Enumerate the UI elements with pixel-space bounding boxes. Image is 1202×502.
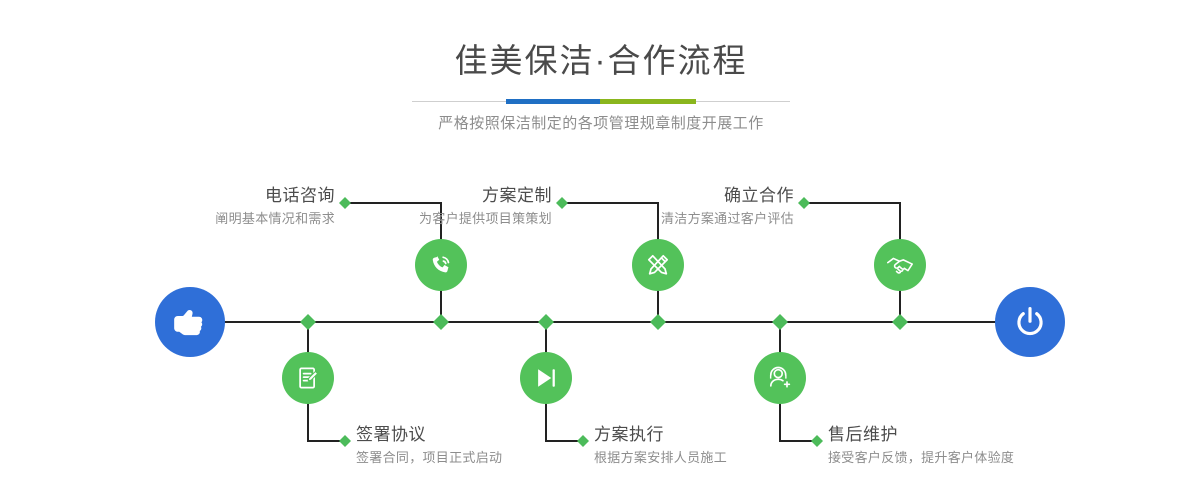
step-desc-4: 根据方案安排人员施工 — [594, 449, 727, 467]
axis-node-marker — [433, 314, 449, 330]
step-desc-3: 为客户提供项目策策划 — [419, 210, 552, 228]
step-icon-4[interactable] — [520, 352, 572, 404]
step-desc-5: 清洁方案通过客户评估 — [661, 210, 794, 228]
step-title-6: 售后维护 — [828, 425, 1014, 445]
cooperation-flow-infographic: 佳美保洁·合作流程 严格按照保洁制定的各项管理规章制度开展工作 — [0, 0, 1202, 502]
label-marker-step-2 — [339, 435, 351, 447]
step-icon-6[interactable] — [754, 352, 806, 404]
step-icon-3[interactable] — [632, 239, 684, 291]
step-desc-2: 签署合同，项目正式启动 — [356, 449, 502, 467]
axis-node-marker — [300, 314, 316, 330]
step-desc-1: 阐明基本情况和需求 — [215, 210, 335, 228]
step-title-1: 电话咨询 — [215, 186, 335, 206]
flow-start-node[interactable] — [155, 287, 225, 357]
step-label-1: 电话咨询 阐明基本情况和需求 — [215, 186, 335, 228]
power-icon — [1011, 303, 1049, 341]
axis-node-marker — [538, 314, 554, 330]
step-label-3: 方案定制 为客户提供项目策策划 — [419, 186, 552, 228]
label-marker-step-4 — [577, 435, 589, 447]
axis-node-marker — [892, 314, 908, 330]
pointing-hand-icon — [171, 303, 209, 341]
step-icon-2[interactable] — [282, 352, 334, 404]
step-desc-6: 接受客户反馈，提升客户体验度 — [828, 449, 1014, 467]
step-label-4: 方案执行 根据方案安排人员施工 — [594, 425, 727, 467]
flow-end-node[interactable] — [995, 287, 1065, 357]
handshake-icon — [885, 250, 915, 280]
pencil-design-icon — [644, 251, 672, 279]
step-icon-5[interactable] — [874, 239, 926, 291]
customer-service-add-icon — [766, 364, 794, 392]
step-icon-1[interactable] — [415, 239, 467, 291]
step-title-2: 签署协议 — [356, 425, 502, 445]
label-marker-step-6 — [811, 435, 823, 447]
play-execute-icon — [532, 364, 560, 392]
step-label-6: 售后维护 接受客户反馈，提升客户体验度 — [828, 425, 1014, 467]
label-marker-step-1 — [339, 197, 351, 209]
phone-call-icon — [427, 251, 455, 279]
step-label-5: 确立合作 清洁方案通过客户评估 — [661, 186, 794, 228]
label-marker-step-5 — [798, 197, 810, 209]
axis-node-marker — [650, 314, 666, 330]
label-marker-step-3 — [556, 197, 568, 209]
axis-node-marker — [772, 314, 788, 330]
step-title-4: 方案执行 — [594, 425, 727, 445]
document-edit-icon — [294, 364, 322, 392]
step-title-5: 确立合作 — [661, 186, 794, 206]
step-label-2: 签署协议 签署合同，项目正式启动 — [356, 425, 502, 467]
step-title-3: 方案定制 — [419, 186, 552, 206]
